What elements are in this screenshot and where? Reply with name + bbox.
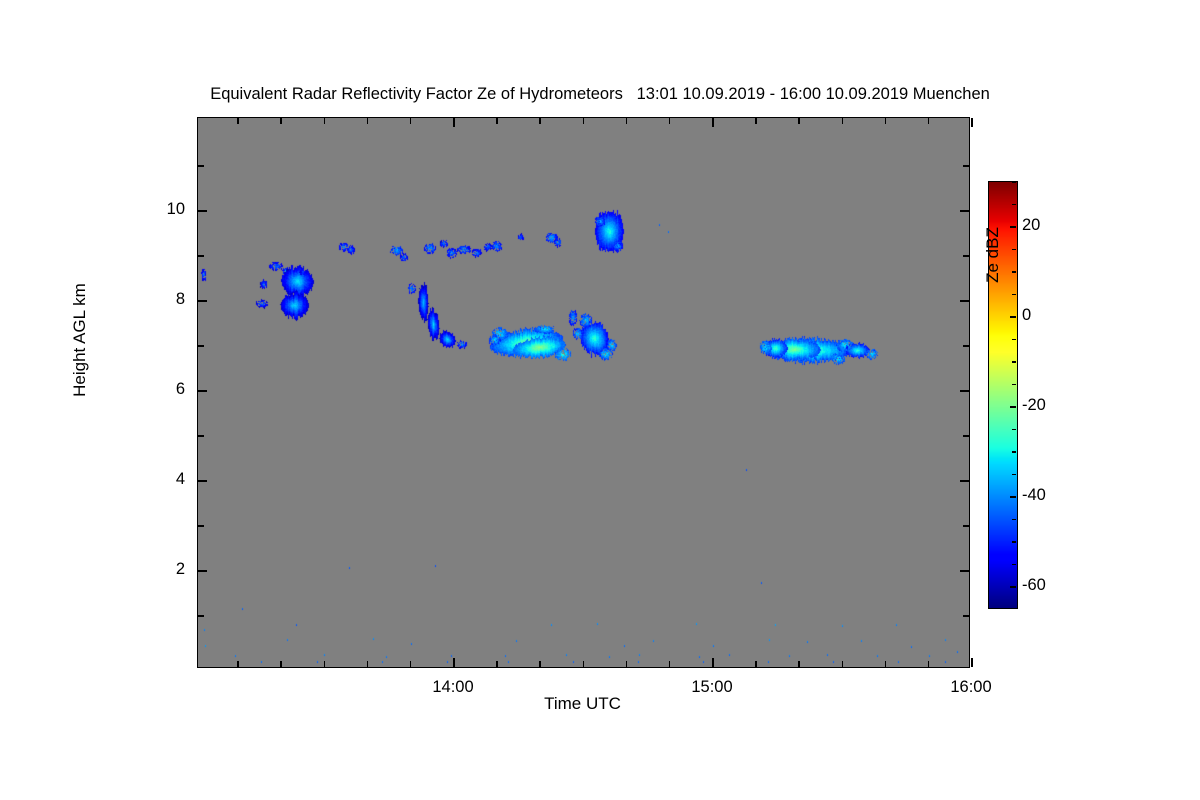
radar-reflectivity-figure: Equivalent Radar Reflectivity Factor Ze … <box>0 0 1200 800</box>
x-tick-minor <box>410 661 412 667</box>
figure-title: Equivalent Radar Reflectivity Factor Ze … <box>0 85 1200 104</box>
y-tick-minor <box>198 165 204 167</box>
x-tick-major-top <box>453 118 455 127</box>
colorbar-tick <box>1010 226 1016 228</box>
y-axis-title: Height AGL km <box>70 210 90 470</box>
x-tick-minor-top <box>539 118 541 124</box>
x-tick-minor-top <box>885 118 887 124</box>
colorbar-tick-label: 20 <box>1022 216 1092 235</box>
x-tick-minor <box>755 661 757 667</box>
x-tick-minor <box>885 661 887 667</box>
x-tick-major <box>453 658 455 667</box>
colorbar-tick <box>1010 406 1016 408</box>
colorbar-tick-minor <box>1012 474 1016 476</box>
plot-area <box>197 117 970 668</box>
x-tick-major-top <box>712 118 714 127</box>
y-tick-label: 10 <box>125 200 185 219</box>
colorbar-tick-minor <box>1012 361 1016 363</box>
y-tick-major-right <box>960 570 969 572</box>
x-axis-title: Time UTC <box>0 694 1165 714</box>
colorbar-tick-minor <box>1012 384 1016 386</box>
y-tick-major-right <box>960 390 969 392</box>
colorbar-tick <box>1010 586 1016 588</box>
colorbar-tick-minor <box>1012 294 1016 296</box>
y-tick-label: 8 <box>125 290 185 309</box>
x-tick-minor <box>798 661 800 667</box>
y-tick-major <box>198 390 207 392</box>
x-tick-minor <box>324 661 326 667</box>
x-tick-minor <box>367 661 369 667</box>
x-tick-minor-top <box>626 118 628 124</box>
y-tick-major <box>198 210 207 212</box>
colorbar-tick-minor <box>1012 181 1016 183</box>
x-tick-minor <box>928 661 930 667</box>
x-tick-minor-top <box>410 118 412 124</box>
colorbar-tick-minor <box>1012 564 1016 566</box>
y-tick-minor <box>198 525 204 527</box>
x-tick-minor-top <box>496 118 498 124</box>
x-tick-minor-top <box>237 118 239 124</box>
y-tick-label: 2 <box>125 560 185 579</box>
colorbar-tick <box>1010 316 1016 318</box>
x-tick-minor-top <box>367 118 369 124</box>
x-tick-minor <box>496 661 498 667</box>
x-tick-minor <box>626 661 628 667</box>
colorbar-tick-label: -60 <box>1022 576 1092 595</box>
colorbar-tick-label: 0 <box>1022 306 1092 325</box>
y-tick-major-right <box>960 210 969 212</box>
colorbar-tick-minor <box>1012 451 1016 453</box>
x-tick-major <box>971 658 973 667</box>
y-tick-minor-right <box>963 165 969 167</box>
y-tick-minor-right <box>963 345 969 347</box>
colorbar-title: Ze dBZ <box>983 145 1003 365</box>
x-tick-minor <box>539 661 541 667</box>
x-tick-major-top <box>971 118 973 127</box>
y-tick-major-right <box>960 300 969 302</box>
x-tick-minor <box>583 661 585 667</box>
x-tick-minor-top <box>928 118 930 124</box>
y-tick-minor <box>198 345 204 347</box>
y-tick-major-right <box>960 480 969 482</box>
colorbar-tick-minor <box>1012 249 1016 251</box>
colorbar-tick-minor <box>1012 204 1016 206</box>
y-tick-minor-right <box>963 255 969 257</box>
y-tick-major <box>198 480 207 482</box>
colorbar-tick-minor <box>1012 339 1016 341</box>
x-tick-minor-top <box>842 118 844 124</box>
colorbar-tick <box>1010 496 1016 498</box>
colorbar-tick-label: -40 <box>1022 486 1092 505</box>
x-tick-minor <box>669 661 671 667</box>
x-tick-minor-top <box>280 118 282 124</box>
y-tick-minor <box>198 435 204 437</box>
colorbar-tick-minor <box>1012 271 1016 273</box>
x-tick-minor <box>237 661 239 667</box>
y-tick-minor-right <box>963 435 969 437</box>
colorbar-tick-minor <box>1012 541 1016 543</box>
x-tick-minor <box>842 661 844 667</box>
x-tick-minor-top <box>324 118 326 124</box>
x-tick-minor-top <box>669 118 671 124</box>
y-tick-minor-right <box>963 615 969 617</box>
reflectivity-heatmap <box>198 118 968 666</box>
x-tick-minor-top <box>755 118 757 124</box>
colorbar-tick-minor <box>1012 429 1016 431</box>
y-tick-major <box>198 570 207 572</box>
y-tick-major <box>198 300 207 302</box>
x-tick-minor-top <box>583 118 585 124</box>
colorbar-tick-minor <box>1012 519 1016 521</box>
colorbar-tick-label: -20 <box>1022 396 1092 415</box>
y-tick-minor <box>198 255 204 257</box>
x-tick-major <box>712 658 714 667</box>
y-tick-label: 4 <box>125 470 185 489</box>
y-tick-minor-right <box>963 525 969 527</box>
x-tick-minor-top <box>798 118 800 124</box>
x-tick-minor <box>280 661 282 667</box>
y-tick-minor <box>198 615 204 617</box>
y-tick-label: 6 <box>125 380 185 399</box>
